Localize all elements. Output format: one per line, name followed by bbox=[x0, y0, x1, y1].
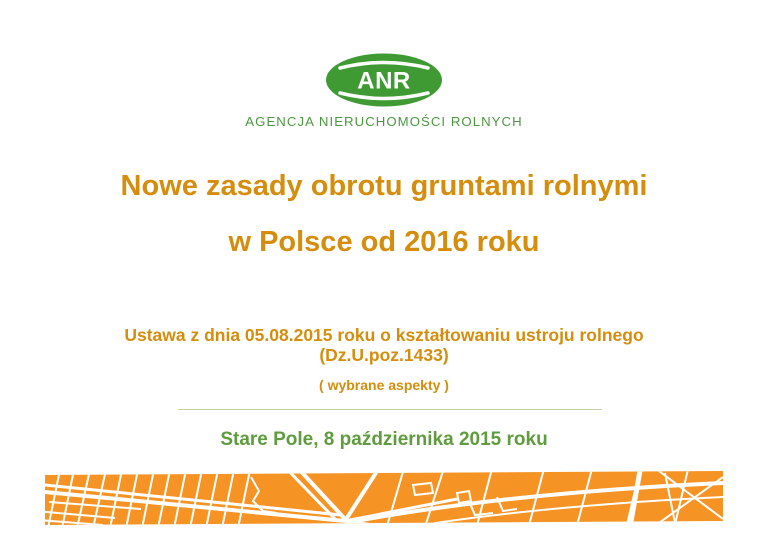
cadastral-map-graphic bbox=[45, 471, 723, 525]
page-title-line-2: w Polsce od 2016 roku bbox=[0, 228, 768, 257]
place-and-date-text: Stare Pole, 8 października 2015 roku bbox=[0, 429, 768, 451]
subtitle-journal-reference: (Dz.U.poz.1433) bbox=[104, 345, 664, 365]
anr-logo: ANR AGENCJA NIERUCHOMOŚCI ROLNYCH bbox=[0, 52, 768, 129]
anr-logo-mark: ANR bbox=[325, 52, 443, 108]
anr-logo-tagline: AGENCJA NIERUCHOMOŚCI ROLNYCH bbox=[0, 114, 768, 129]
svg-text:ANR: ANR bbox=[357, 68, 411, 95]
place-and-date: Stare Pole, 8 października 2015 roku bbox=[0, 429, 768, 451]
footer-cadastral-map-band bbox=[45, 471, 723, 525]
page-title: Nowe zasady obrotu gruntami rolnymi w Po… bbox=[0, 172, 768, 257]
page-subtitle: Ustawa z dnia 05.08.2015 roku o kształto… bbox=[0, 325, 768, 393]
page-title-line-1: Nowe zasady obrotu gruntami rolnymi bbox=[0, 172, 768, 201]
subtitle-act-reference: Ustawa z dnia 05.08.2015 roku o kształto… bbox=[0, 325, 768, 345]
subtitle-aside-note: ( wybrane aspekty ) bbox=[0, 377, 768, 393]
horizontal-divider bbox=[178, 409, 602, 410]
presentation-slide: ANR AGENCJA NIERUCHOMOŚCI ROLNYCH Nowe z… bbox=[0, 0, 768, 543]
